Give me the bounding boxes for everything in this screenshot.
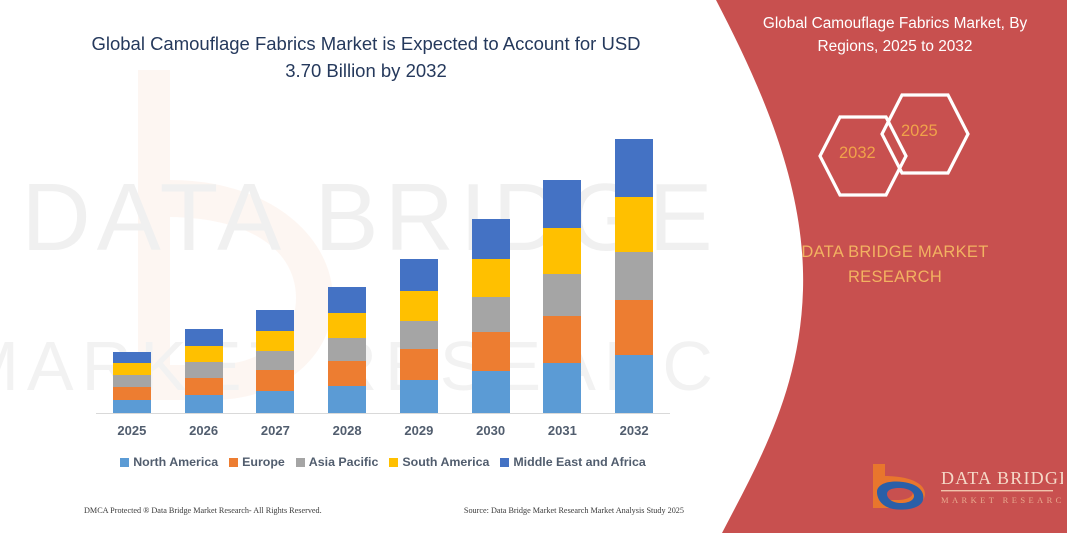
logo-divider: [941, 490, 1053, 491]
x-axis-line: [96, 413, 670, 414]
stacked-bar-2029: [400, 259, 438, 413]
legend-item[interactable]: Europe: [229, 455, 285, 469]
bar-segment: [543, 316, 581, 363]
brand-name: DATA BRIDGE MARKET RESEARCH: [735, 240, 1055, 290]
bar-segment: [113, 352, 151, 363]
legend-label: South America: [402, 455, 489, 469]
stacked-bar-2027: [256, 310, 294, 413]
legend-label: Europe: [242, 455, 285, 469]
bar-segment: [113, 400, 151, 413]
bar-column: [598, 120, 670, 413]
left-chart-panel: DATA BRIDGE MARKET RESEARCH Global Camou…: [0, 0, 720, 533]
bar-column: [527, 120, 599, 413]
bar-segment: [185, 329, 223, 346]
bar-segment: [328, 386, 366, 413]
x-axis-tick-labels: 20252026202720282029203020312032: [96, 423, 670, 438]
legend-swatch-icon: [120, 458, 129, 467]
legend-swatch-icon: [389, 458, 398, 467]
bar-segment: [543, 180, 581, 228]
bar-segment: [328, 313, 366, 338]
bar-segment: [543, 363, 581, 413]
bar-segment: [615, 139, 653, 197]
bar-segment: [400, 349, 438, 380]
side-panel-heading: Global Camouflage Fabrics Market, By Reg…: [735, 12, 1055, 58]
stacked-bar-2028: [328, 287, 366, 413]
bar-segment: [256, 310, 294, 331]
bar-segment: [472, 332, 510, 371]
bar-segment: [113, 363, 151, 375]
x-tick-label: 2028: [311, 423, 383, 438]
bar-column: [311, 120, 383, 413]
bar-column: [455, 120, 527, 413]
stacked-bar-2030: [472, 219, 510, 413]
bar-segment: [400, 321, 438, 349]
bar-segment: [400, 259, 438, 291]
x-tick-label: 2026: [168, 423, 240, 438]
bar-segment: [472, 371, 510, 413]
legend-item[interactable]: South America: [389, 455, 489, 469]
bar-segment: [615, 252, 653, 300]
brand-name-line-1: DATA BRIDGE MARKET: [735, 240, 1055, 265]
legend-swatch-icon: [500, 458, 509, 467]
x-tick-label: 2025: [96, 423, 168, 438]
bar-segment: [615, 300, 653, 355]
bar-segment: [543, 228, 581, 274]
legend-swatch-icon: [229, 458, 238, 467]
bar-segment: [185, 346, 223, 362]
hexagon-start-year-label: 2025: [901, 122, 938, 141]
brand-name-line-2: RESEARCH: [735, 265, 1055, 290]
x-tick-label: 2029: [383, 423, 455, 438]
bar-segment: [185, 378, 223, 395]
bar-segment: [256, 370, 294, 391]
bar-segment: [615, 355, 653, 413]
bar-segment: [256, 391, 294, 413]
legend-swatch-icon: [296, 458, 305, 467]
bar-segment: [328, 361, 366, 386]
hexagon-end-year-label: 2032: [839, 144, 876, 163]
bar-segment: [113, 387, 151, 400]
footer-source: Source: Data Bridge Market Research Mark…: [464, 506, 684, 515]
x-tick-label: 2030: [455, 423, 527, 438]
bar-column: [383, 120, 455, 413]
x-tick-label: 2027: [240, 423, 312, 438]
bar-segment: [615, 197, 653, 252]
bar-segment: [472, 297, 510, 332]
x-tick-label: 2031: [527, 423, 599, 438]
legend-label: North America: [133, 455, 218, 469]
infographic-root: DATA BRIDGE MARKET RESEARCH Global Camou…: [0, 0, 1067, 533]
logo-main-text: DATA BRIDGE: [941, 468, 1063, 488]
bar-segment: [472, 219, 510, 259]
bar-column: [96, 120, 168, 413]
legend-label: Middle East and Africa: [513, 455, 645, 469]
bar-column: [240, 120, 312, 413]
legend-item[interactable]: Asia Pacific: [296, 455, 379, 469]
stacked-bar-2031: [543, 180, 581, 413]
legend-item[interactable]: North America: [120, 455, 218, 469]
right-panel-content: Global Camouflage Fabrics Market, By Reg…: [735, 0, 1067, 533]
chart-legend: North AmericaEuropeAsia PacificSouth Ame…: [96, 455, 670, 469]
bar-segment: [256, 351, 294, 370]
legend-label: Asia Pacific: [309, 455, 379, 469]
chart-plot-area: [96, 120, 670, 414]
footer-copyright: DMCA Protected ® Data Bridge Market Rese…: [84, 506, 322, 515]
bar-segment: [256, 331, 294, 351]
stacked-bar-group: [96, 120, 670, 413]
bar-segment: [472, 259, 510, 297]
bar-segment: [185, 362, 223, 378]
bar-segment: [328, 338, 366, 361]
legend-item[interactable]: Middle East and Africa: [500, 455, 645, 469]
logo-b-mark-icon: [873, 464, 925, 510]
bar-segment: [185, 395, 223, 413]
stacked-bar-2025: [113, 352, 151, 413]
bar-segment: [400, 291, 438, 321]
stacked-bar-2026: [185, 329, 223, 413]
logo-sub-text: MARKET RESEARCH: [941, 495, 1063, 505]
data-bridge-logo: DATA BRIDGE MARKET RESEARCH: [863, 458, 1063, 514]
stacked-bar-2032: [615, 139, 653, 413]
footer: DMCA Protected ® Data Bridge Market Rese…: [84, 506, 684, 515]
x-tick-label: 2032: [598, 423, 670, 438]
hexagon-pair: 2032 2025: [817, 92, 977, 197]
bar-segment: [400, 380, 438, 413]
bar-segment: [543, 274, 581, 316]
bar-segment: [113, 375, 151, 387]
page-title: Global Camouflage Fabrics Market is Expe…: [86, 30, 646, 84]
bar-segment: [328, 287, 366, 313]
bar-column: [168, 120, 240, 413]
